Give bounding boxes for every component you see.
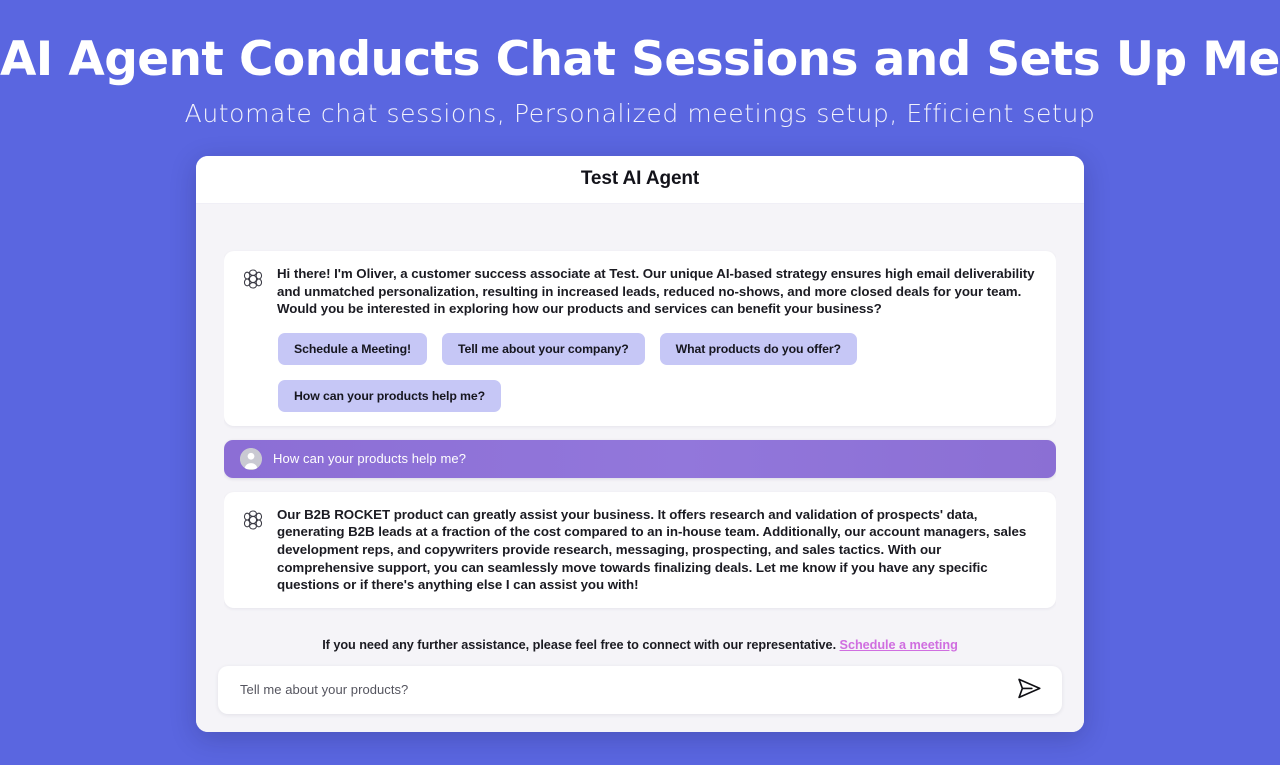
bot-message: Hi there! I'm Oliver, a customer success… — [224, 251, 1056, 426]
user-avatar-icon — [240, 448, 262, 470]
quick-reply-what-products-do-you-offer[interactable]: What products do you offer? — [660, 333, 857, 365]
page-title: AI Agent Conducts Chat Sessions and Sets… — [0, 34, 1280, 87]
chat-input-bar — [218, 666, 1062, 714]
send-paper-plane-icon — [1016, 675, 1043, 705]
quick-reply-tell-me-about-your-company[interactable]: Tell me about your company? — [442, 333, 645, 365]
molecule-icon — [240, 266, 266, 292]
quick-reply-how-can-your-products-help-me[interactable]: How can your products help me? — [278, 380, 501, 412]
user-message: How can your products help me? — [224, 440, 1056, 478]
chat-input-bar-wrap — [196, 666, 1084, 732]
assistance-line: If you need any further assistance, plea… — [224, 626, 1056, 666]
chat-body: Hi there! I'm Oliver, a customer success… — [196, 204, 1084, 666]
chat-panel: Test AI Agent — [196, 156, 1084, 732]
bot-message: Our B2B ROCKET product can greatly assis… — [224, 492, 1056, 608]
page-root: AI Agent Conducts Chat Sessions and Sets… — [0, 0, 1280, 765]
molecule-icon — [240, 507, 266, 533]
chat-header: Test AI Agent — [196, 156, 1084, 204]
chat-header-title: Test AI Agent — [581, 168, 699, 190]
page-subtitle: Automate chat sessions, Personalized mee… — [0, 99, 1280, 128]
bot-message-text: Hi there! I'm Oliver, a customer success… — [277, 265, 1038, 318]
quick-reply-group: Schedule a Meeting! Tell me about your c… — [240, 333, 1038, 412]
chat-message-input[interactable] — [240, 682, 1014, 697]
chat-message-list[interactable]: Hi there! I'm Oliver, a customer success… — [224, 204, 1056, 626]
bot-message-row: Hi there! I'm Oliver, a customer success… — [240, 265, 1038, 318]
bot-message-row: Our B2B ROCKET product can greatly assis… — [240, 506, 1038, 594]
send-button[interactable] — [1014, 675, 1044, 705]
assistance-text: If you need any further assistance, plea… — [322, 638, 836, 652]
bot-message-text: Our B2B ROCKET product can greatly assis… — [277, 506, 1038, 594]
user-message-text: How can your products help me? — [273, 451, 466, 466]
schedule-a-meeting-link[interactable]: Schedule a meeting — [840, 638, 958, 652]
quick-reply-schedule-a-meeting[interactable]: Schedule a Meeting! — [278, 333, 427, 365]
hero-section: AI Agent Conducts Chat Sessions and Sets… — [0, 0, 1280, 128]
